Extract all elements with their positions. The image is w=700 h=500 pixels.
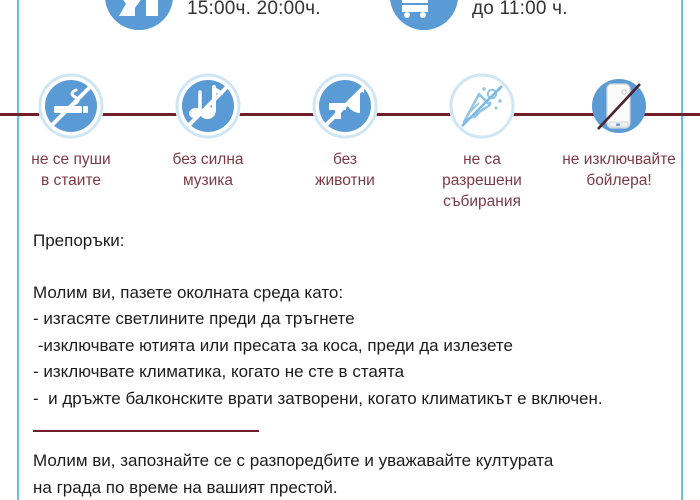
rule-label-no-loud-music: без силна музика — [172, 150, 243, 192]
recommendation-bullet-2: -изключвате ютията или пресата за коса, … — [33, 333, 673, 360]
rule-label-no-smoking: не се пуши в стаите — [31, 150, 110, 192]
recommendations-heading: Препоръки: — [33, 228, 673, 254]
section-divider — [33, 430, 259, 432]
rule-label-no-parties: не са разрешени събирания — [442, 150, 522, 213]
no-boiler-off-icon — [583, 70, 655, 142]
checkin-item: Настаняване: 15:00ч. 20:00ч. — [105, 0, 321, 30]
poster-page: Настаняване: 15:00ч. 20:00ч. Освобождава… — [0, 0, 700, 500]
recommendation-bullet-1: - изгасяте светлините преди да тръгнете — [33, 306, 673, 333]
no-smoking-icon — [35, 70, 107, 142]
rule-item-no-smoking: не се пуши в стаите — [11, 70, 131, 192]
recommendations-intro: Молим ви, пазете околната среда като: — [33, 280, 673, 307]
recommendation-bullet-3: - изключвате климатика, когато не сте в … — [33, 359, 673, 386]
checkout-text: Освобождаване: до 11:00 ч. — [472, 0, 633, 20]
no-parties-icon — [446, 70, 518, 142]
no-loud-music-icon — [172, 70, 244, 142]
closing-line-2: на града по време на вашият престой. — [33, 474, 661, 500]
location-pin-building-icon — [105, 0, 173, 30]
rule-item-no-parties: не са разрешени събирания — [422, 70, 542, 213]
checkin-time: 15:00ч. 20:00ч. — [187, 0, 321, 20]
rule-label-no-pets: без животни — [315, 150, 375, 192]
house-rules-row: не се пуши в стаите без силна музика — [0, 70, 700, 220]
checkout-item: Освобождаване: до 11:00 ч. — [390, 0, 633, 30]
checkin-checkout-band: Настаняване: 15:00ч. 20:00ч. Освобождава… — [0, 0, 700, 52]
rule-item-no-loud-music: без силна музика — [148, 70, 268, 192]
rule-item-no-pets: без животни — [285, 70, 405, 192]
recommendations-block: Препоръки: Молим ви, пазете околната сре… — [33, 228, 673, 412]
rule-label-no-boiler-off: не изключвайте бойлера! — [562, 150, 676, 192]
rule-item-no-boiler-off: не изключвайте бойлера! — [559, 70, 679, 192]
closing-note: Молим ви, запознайте се с разпоредбите и… — [33, 447, 661, 500]
no-pets-icon — [309, 70, 381, 142]
closing-line-1: Молим ви, запознайте се с разпоредбите и… — [33, 447, 661, 474]
luggage-plane-icon — [390, 0, 458, 30]
checkout-time: до 11:00 ч. — [472, 0, 633, 20]
recommendations-list: Молим ви, пазете околната среда като: - … — [33, 280, 673, 413]
recommendation-bullet-4: - и дръжте балконските врати затворени, … — [33, 386, 673, 413]
checkin-text: Настаняване: 15:00ч. 20:00ч. — [187, 0, 321, 20]
